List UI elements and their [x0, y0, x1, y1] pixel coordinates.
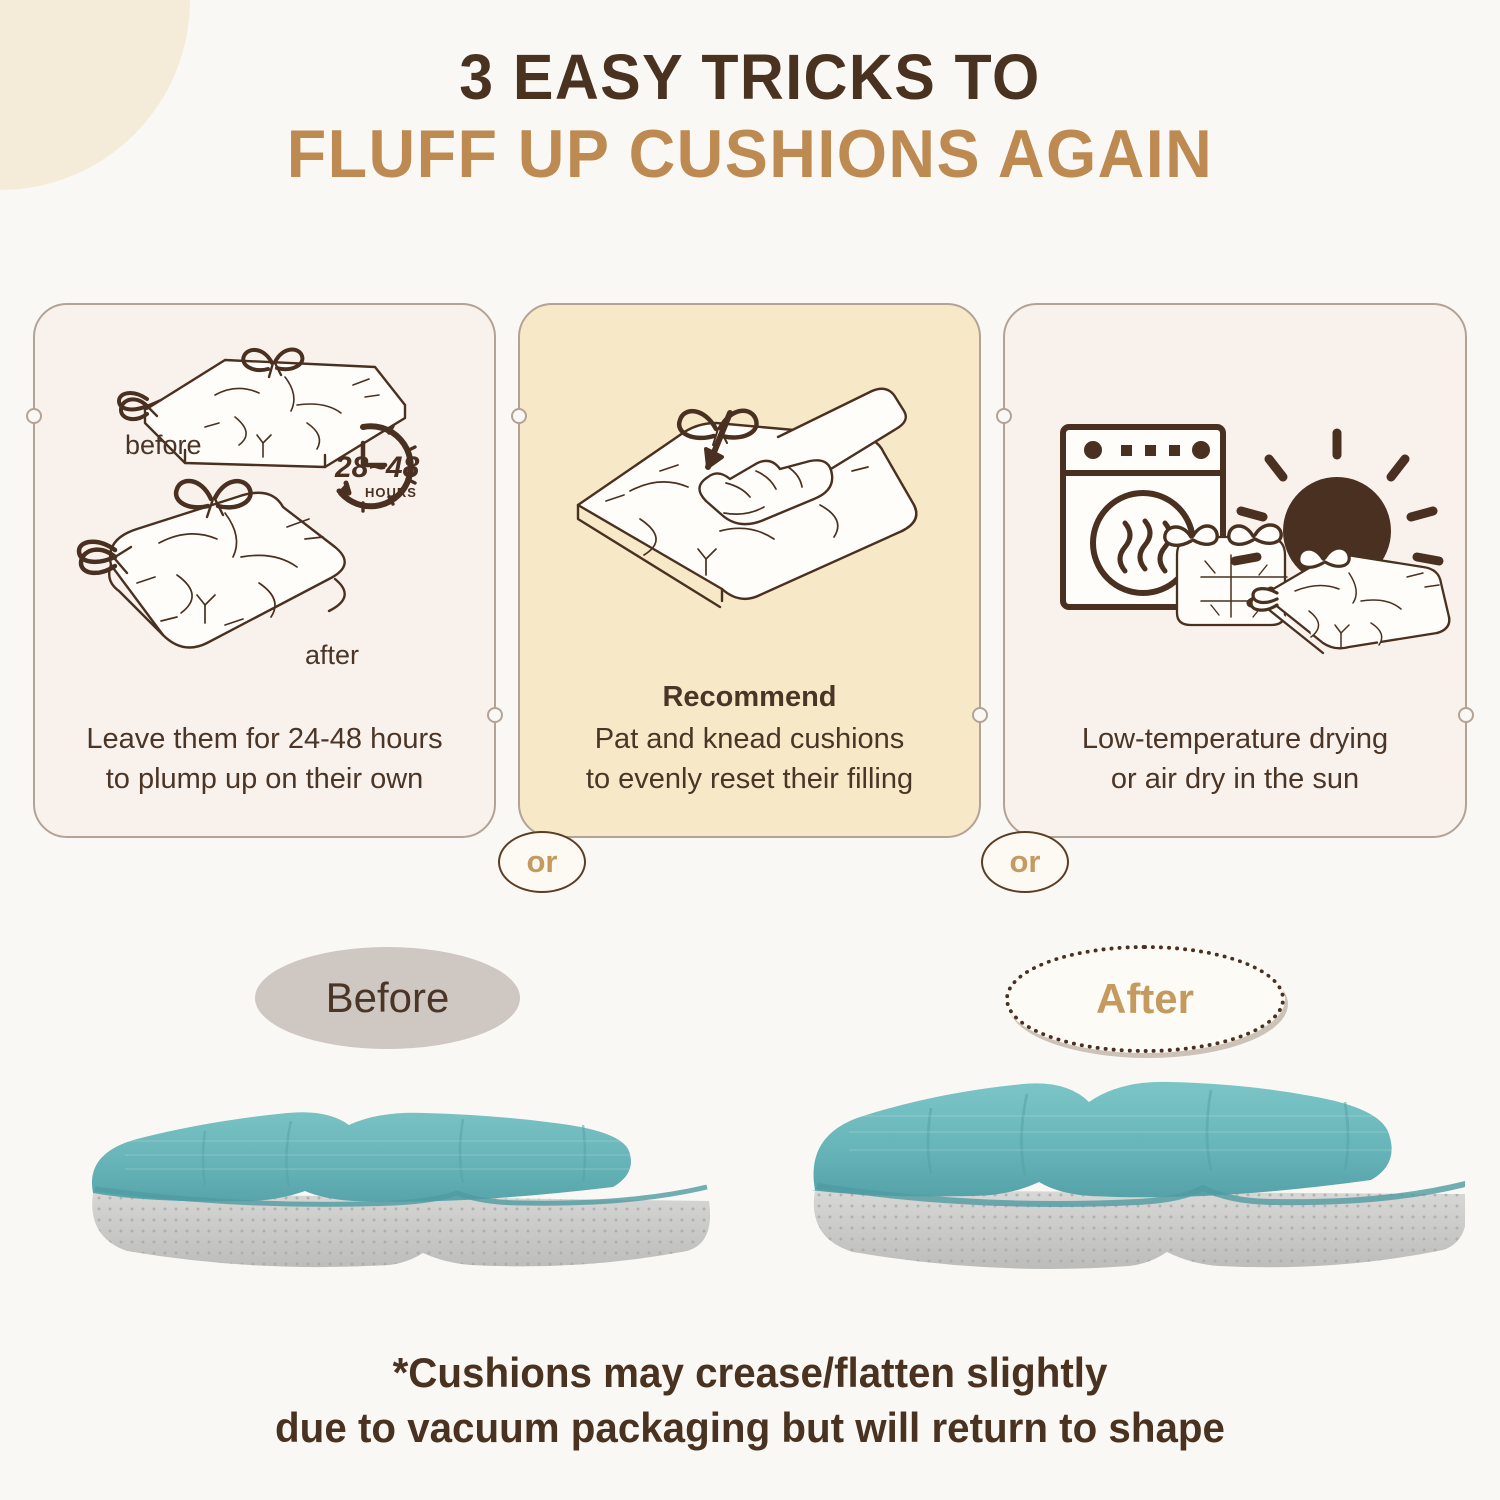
illustration-leave-cushions: 28~48 HOURS	[35, 305, 494, 705]
connector-or-2: or	[981, 831, 1069, 893]
page-title: 3 EASY TRICKS TO FLUFF UP CUSHIONS AGAIN	[0, 44, 1500, 191]
tip-heading-recommend: Recommend	[532, 677, 967, 717]
svg-text:28~48: 28~48	[334, 451, 420, 484]
connector-or-1: or	[498, 831, 586, 893]
badge-after: After	[1005, 945, 1285, 1053]
tip-caption-knead-line1: Pat and knead cushions	[532, 719, 967, 759]
title-line-1: 3 EASY TRICKS TO	[38, 44, 1463, 111]
title-line-2: FLUFF UP CUSHIONS AGAIN	[38, 119, 1463, 190]
tip-caption-dry-line1: Low-temperature drying	[1017, 719, 1453, 759]
label-after-sketch: after	[305, 640, 359, 671]
infographic-root: 3 EASY TRICKS TO FLUFF UP CUSHIONS AGAIN	[0, 0, 1500, 1500]
tip-caption-leave: Leave them for 24-48 hours to plump up o…	[47, 719, 482, 799]
tip-caption-leave-line1: Leave them for 24-48 hours	[47, 719, 482, 759]
footnote-line-2: due to vacuum packaging but will return …	[30, 1400, 1470, 1455]
tip-panel-leave: 28~48 HOURS before after Leave them for …	[33, 303, 496, 838]
badge-before: Before	[255, 947, 520, 1049]
footnote: *Cushions may crease/flatten slightly du…	[30, 1345, 1470, 1456]
illustration-knead-cushion	[520, 305, 979, 705]
tip-panel-knead: Recommend Pat and knead cushions to even…	[518, 303, 981, 838]
tip-caption-dry-line2: or air dry in the sun	[1017, 759, 1453, 799]
cushion-photo-after	[805, 1060, 1465, 1285]
tip-caption-leave-line2: to plump up on their own	[47, 759, 482, 799]
edge-node-bottom-right	[487, 707, 503, 723]
illustration-dry-cushion	[1005, 305, 1465, 705]
svg-text:HOURS: HOURS	[365, 485, 417, 500]
tip-caption-knead-line2: to evenly reset their filling	[532, 759, 967, 799]
tip-caption-knead: Recommend Pat and knead cushions to even…	[532, 677, 967, 799]
edge-node-bottom-right	[1458, 707, 1474, 723]
tip-caption-dry: Low-temperature drying or air dry in the…	[1017, 719, 1453, 799]
tips-panel-group: 28~48 HOURS before after Leave them for …	[33, 303, 1467, 838]
cushion-photo-before	[85, 1085, 715, 1285]
footnote-line-1: *Cushions may crease/flatten slightly	[30, 1345, 1470, 1400]
label-before-sketch: before	[125, 430, 202, 461]
edge-node-bottom-right	[972, 707, 988, 723]
tip-panel-dry: Low-temperature drying or air dry in the…	[1003, 303, 1467, 838]
